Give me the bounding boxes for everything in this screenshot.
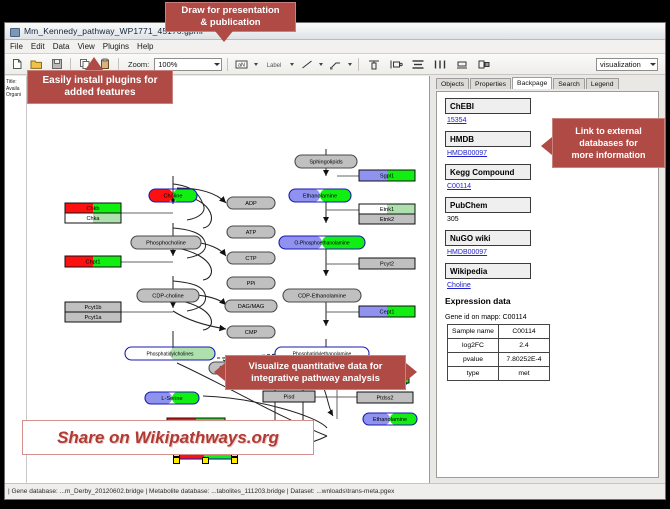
title-bar: Mm_Kennedy_pathway_WP1771_45176.gpml bbox=[5, 23, 665, 40]
node-label: ADP bbox=[245, 201, 257, 207]
node-label: DAG/MAG bbox=[238, 304, 264, 310]
tab-properties[interactable]: Properties bbox=[470, 78, 511, 89]
db-header-pubchem: PubChem bbox=[445, 197, 531, 213]
chevron-down-icon-visualization bbox=[650, 63, 656, 66]
table-cell-key: log2FC bbox=[448, 339, 499, 353]
callout-draw-line2: & publication bbox=[181, 17, 279, 29]
visualization-combo[interactable]: visualization bbox=[596, 58, 658, 71]
menu-plugins[interactable]: Plugins bbox=[103, 42, 129, 51]
node-label: Phosphocholine bbox=[146, 241, 186, 247]
node-label: Cept1 bbox=[380, 310, 395, 316]
node-label: Sphingolipids bbox=[309, 160, 342, 166]
app-icon bbox=[9, 26, 20, 37]
node-label: PPi bbox=[247, 281, 256, 287]
node-label: Chkb bbox=[86, 206, 99, 212]
menu-data[interactable]: Data bbox=[53, 42, 70, 51]
node-label: Pisd bbox=[284, 395, 295, 401]
menu-file[interactable]: File bbox=[10, 42, 23, 51]
node-label: Etnk2 bbox=[380, 217, 394, 223]
chevron-down-icon-anchor[interactable] bbox=[348, 63, 352, 66]
resize-handle[interactable] bbox=[202, 457, 209, 464]
db-link-kegg[interactable]: C00114 bbox=[447, 183, 658, 190]
db-value-pubchem: 305 bbox=[447, 216, 658, 223]
toolbar-separator-4 bbox=[358, 58, 359, 71]
new-file-icon[interactable] bbox=[8, 56, 25, 73]
info-organism: Organi bbox=[6, 92, 25, 99]
gene-id-label: Gene id on mapp: C00114 bbox=[445, 314, 658, 321]
resize-handle[interactable] bbox=[173, 457, 180, 464]
zoom-combo[interactable]: 100% bbox=[154, 58, 222, 71]
data-node-tool-icon[interactable]: aN bbox=[233, 56, 250, 73]
db-header-hmdb: HMDB bbox=[445, 131, 531, 147]
table-cell-key: pvalue bbox=[448, 353, 499, 367]
menu-help[interactable]: Help bbox=[137, 42, 153, 51]
side-panel-tabs: Objects Properties Backpage Search Legen… bbox=[430, 76, 665, 89]
tab-objects[interactable]: Objects bbox=[436, 78, 469, 89]
chevron-down-icon-line[interactable] bbox=[319, 63, 323, 66]
db-header-nugo: NuGO wiki bbox=[445, 230, 531, 246]
distribute-vertical-icon[interactable] bbox=[408, 56, 427, 73]
toolbar-separator-2 bbox=[118, 58, 119, 71]
status-text: | Gene database: ...m_Derby_20120602.bri… bbox=[8, 488, 394, 495]
chevron-down-icon bbox=[214, 63, 220, 66]
toolbar-separator-3 bbox=[227, 58, 228, 71]
status-bar: | Gene database: ...m_Derby_20120602.bri… bbox=[5, 483, 665, 499]
table-row: typemet bbox=[448, 367, 550, 381]
callout-visualize-pointer-right bbox=[406, 363, 417, 381]
callout-plugins-line1: Easily install plugins for bbox=[42, 75, 157, 87]
align-top-icon[interactable] bbox=[364, 56, 383, 73]
menu-bar: File Edit Data View Plugins Help bbox=[5, 40, 665, 54]
callout-link-line1: Link to external bbox=[571, 125, 645, 137]
tab-search[interactable]: Search bbox=[553, 78, 585, 89]
callout-plugins: Easily install plugins for added feature… bbox=[27, 70, 173, 104]
size-equal-icon[interactable] bbox=[452, 56, 471, 73]
share-banner-text: Share on Wikipathways.org bbox=[57, 428, 279, 448]
table-row: log2FC2.4 bbox=[448, 339, 550, 353]
visualization-value: visualization bbox=[600, 60, 641, 69]
table-cell-value: met bbox=[499, 367, 550, 381]
screenshot-root: Mm_Kennedy_pathway_WP1771_45176.gpml Fil… bbox=[0, 0, 670, 509]
tab-backpage[interactable]: Backpage bbox=[512, 77, 552, 89]
node-label: Pcyt1a bbox=[84, 315, 102, 321]
bring-front-icon[interactable] bbox=[474, 56, 493, 73]
db-header-wikipedia: Wikipedia bbox=[445, 263, 531, 279]
node-label: L-Serine bbox=[161, 396, 182, 402]
node-label: CTP bbox=[245, 256, 256, 262]
node-label: Ptdss2 bbox=[376, 396, 393, 402]
db-header-kegg: Kegg Compound bbox=[445, 164, 531, 180]
callout-draw-line1: Draw for presentation bbox=[181, 5, 279, 17]
node-label: O-Phosphoethanolamine bbox=[294, 241, 350, 247]
node-label: CMP bbox=[245, 330, 258, 336]
svg-text:Label: Label bbox=[267, 63, 282, 69]
table-cell-value: C00114 bbox=[499, 325, 550, 339]
node-label: Pcyt2 bbox=[380, 262, 394, 268]
node-label: Etnk1 bbox=[380, 207, 394, 213]
callout-plugins-line2: added features bbox=[42, 87, 157, 99]
chevron-down-icon-label[interactable] bbox=[290, 63, 294, 66]
tab-legend[interactable]: Legend bbox=[586, 78, 619, 89]
menu-view[interactable]: View bbox=[78, 42, 95, 51]
table-cell-key: type bbox=[448, 367, 499, 381]
node-label: Choline bbox=[164, 194, 183, 200]
table-cell-value: 2.4 bbox=[499, 339, 550, 353]
line-tool-icon[interactable] bbox=[298, 56, 315, 73]
node-label: Ethanolamine bbox=[373, 417, 407, 423]
callout-viz-line2: integrative pathway analysis bbox=[249, 373, 383, 385]
toolbar-separator bbox=[70, 58, 71, 71]
callout-link-line2: databases for bbox=[571, 137, 645, 149]
chevron-down-icon-datanode[interactable] bbox=[254, 63, 258, 66]
expression-table: Sample nameC00114log2FC2.4pvalue7.80252E… bbox=[447, 324, 550, 381]
callout-link-pointer bbox=[541, 137, 552, 155]
anchor-line-tool-icon[interactable] bbox=[327, 56, 344, 73]
table-cell-key: Sample name bbox=[448, 325, 499, 339]
callout-visualize: Visualize quantitative data for integrat… bbox=[225, 355, 406, 390]
node-label: CDP-Ethanolamine bbox=[298, 294, 346, 300]
node-label: Pcyt1b bbox=[84, 305, 101, 311]
node-label: Ethanolamine bbox=[303, 194, 337, 200]
svg-text:aN: aN bbox=[238, 62, 245, 68]
align-left-icon[interactable] bbox=[386, 56, 405, 73]
label-tool-icon[interactable]: Label bbox=[262, 56, 286, 73]
node-label: Phosphatidylcholines bbox=[147, 352, 194, 358]
expression-data-heading: Expression data bbox=[445, 296, 658, 306]
table-row: Sample nameC00114 bbox=[448, 325, 550, 339]
zoom-value: 100% bbox=[158, 60, 177, 69]
db-link-wikipedia[interactable]: Choline bbox=[447, 282, 658, 289]
callout-link: Link to external databases for more info… bbox=[552, 118, 665, 168]
db-header-chebi: ChEBI bbox=[445, 98, 531, 114]
node-label: Sgpl1 bbox=[380, 174, 394, 180]
db-link-nugo[interactable]: HMDB00097 bbox=[447, 249, 658, 256]
menu-edit[interactable]: Edit bbox=[31, 42, 45, 51]
resize-handle[interactable] bbox=[231, 457, 238, 464]
distribute-horizontal-icon[interactable] bbox=[430, 56, 449, 73]
callout-link-line3: more information bbox=[571, 149, 645, 161]
table-row: pvalue7.80252E-4 bbox=[448, 353, 550, 367]
share-banner: Share on Wikipathways.org bbox=[22, 420, 314, 455]
node-label: Chka bbox=[86, 216, 100, 222]
node-label: ATP bbox=[246, 230, 257, 236]
table-cell-value: 7.80252E-4 bbox=[499, 353, 550, 367]
callout-viz-line1: Visualize quantitative data for bbox=[249, 361, 383, 373]
callout-plugins-pointer bbox=[85, 57, 103, 70]
callout-draw-pointer bbox=[215, 31, 233, 42]
callout-draw: Draw for presentation & publication bbox=[165, 2, 296, 32]
zoom-label: Zoom: bbox=[128, 60, 149, 69]
callout-visualize-pointer-left bbox=[214, 363, 225, 381]
node-label: Chpt1 bbox=[86, 260, 101, 266]
node-label: CDP-choline bbox=[152, 294, 183, 300]
